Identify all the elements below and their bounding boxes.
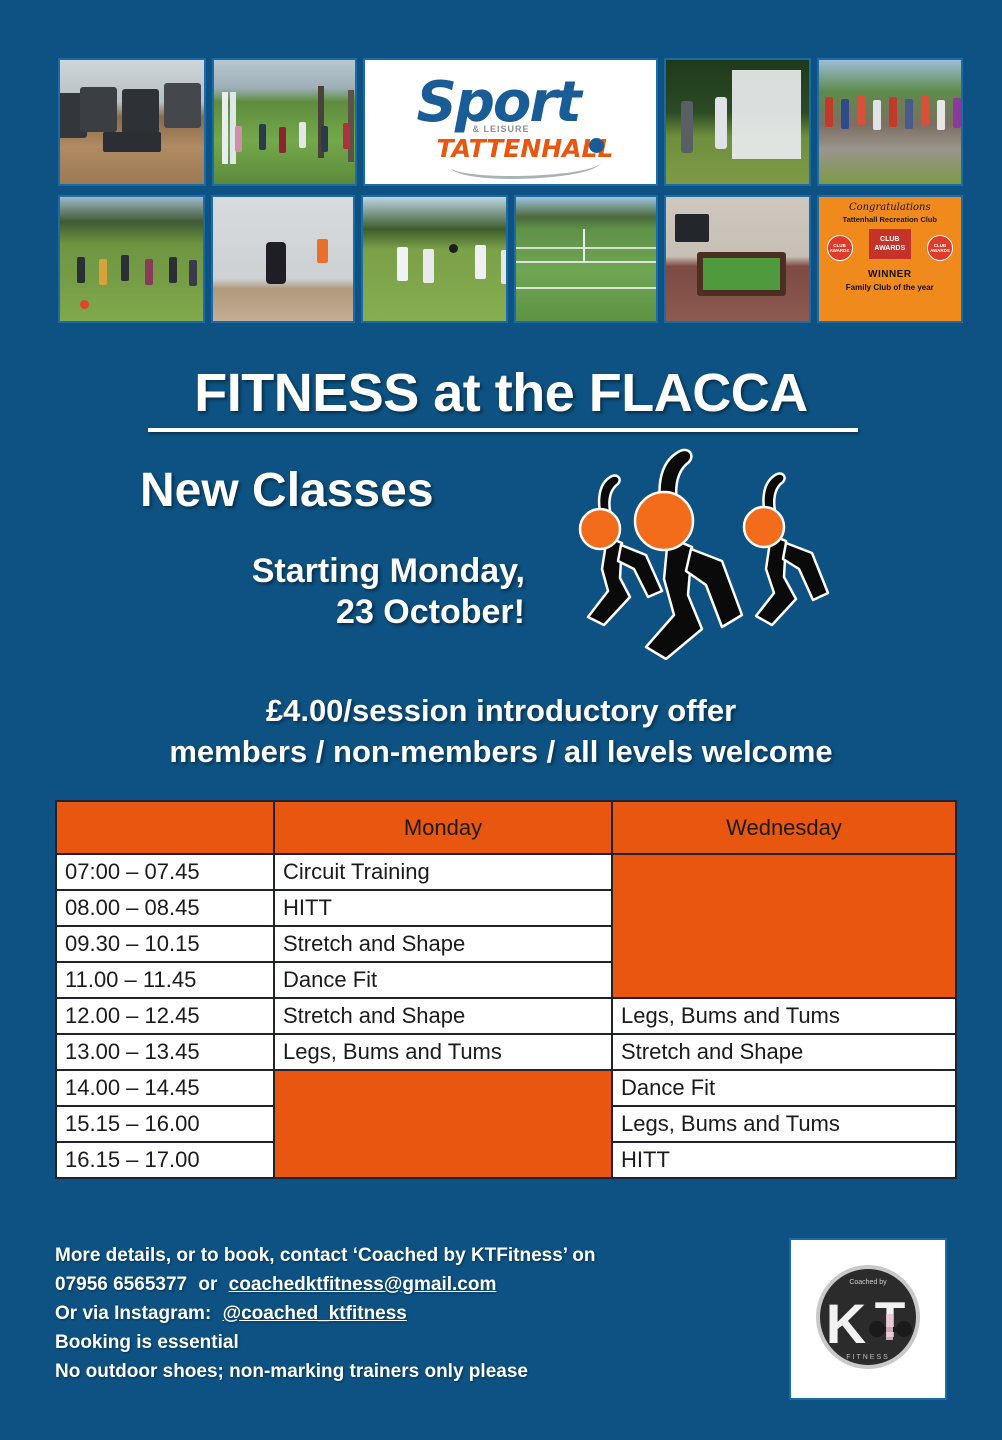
stick-figure-left-head [580,509,620,549]
timetable-time-cell: 14.00 – 14.45 [56,1070,274,1106]
table-row: 07:00 – 07.45 Circuit Training [56,854,956,890]
exercise-figures-illustration [560,445,845,660]
timetable-monday-cell: HITT [274,890,612,926]
title-underline [148,428,858,432]
stick-figure-center-head [635,492,693,550]
logo-swoosh-icon [451,150,601,179]
award-congratulations-text: Congratulations [849,202,931,213]
award-badge-row: CLUB AWARDS CLUB AWARDS CLUB AWARDS [819,227,962,267]
contact-instagram-line: Or via Instagram: @coached_ktfitness [55,1300,596,1329]
award-seal-right-icon: CLUB AWARDS [927,235,953,261]
gallery-photo-running-race [817,58,963,186]
timetable-header-blank [56,801,274,854]
instagram-handle-link[interactable]: @coached_ktfitness [223,1303,407,1324]
gallery-row-top: Sport & LEISURE TATTENHALL [58,58,963,186]
gallery-photo-football-match [212,58,358,186]
gallery-photo-club-award: Congratulations Tattenhall Recreation Cl… [817,195,964,323]
timetable-time-cell: 08.00 – 08.45 [56,890,274,926]
starting-line-2: 23 October! [180,592,525,633]
offer-text: £4.00/session introductory offer members… [0,690,1002,772]
page-title: FITNESS at the FLACCA [0,362,1002,424]
timetable-time-cell: 13.00 – 13.45 [56,1034,274,1070]
ktfitness-logo-top-text: Coached by [849,1279,887,1286]
timetable-monday-cell: Stretch and Shape [274,926,612,962]
contact-intro-line: More details, or to book, contact ‘Coach… [55,1242,596,1271]
award-badge-logo: CLUB AWARDS [869,229,911,259]
timetable-time-cell: 07:00 – 07.45 [56,854,274,890]
award-seal-left-icon: CLUB AWARDS [827,235,853,261]
timetable-header-row: Monday Wednesday [56,801,956,854]
timetable-wednesday-cell: Legs, Bums and Tums [612,998,956,1034]
photo-gallery: Sport & LEISURE TATTENHALL Congratulatio… [58,58,963,323]
timetable-monday-empty-block [274,1070,612,1178]
ktfitness-logo-letter-k: K [826,1292,866,1355]
timetable-time-cell: 09.30 – 10.15 [56,926,274,962]
timetable-header-wednesday: Wednesday [612,801,956,854]
timetable-wednesday-empty-block [612,854,956,998]
contact-phone: 07956 6565377 [55,1274,187,1295]
gallery-photo-squash-court [211,195,356,323]
ktfitness-logo-bottom-text: FITNESS [846,1354,890,1361]
timetable-time-cell: 16.15 – 17.00 [56,1142,274,1178]
timetable-wednesday-cell: Stretch and Shape [612,1034,956,1070]
stick-figure-center [646,450,742,659]
offer-line-1: £4.00/session introductory offer [0,690,1002,731]
timetable-wednesday-cell: Legs, Bums and Tums [612,1106,956,1142]
table-row: 13.00 – 13.45 Legs, Bums and Tums Stretc… [56,1034,956,1070]
contact-or-word: or [198,1274,217,1295]
contact-details: More details, or to book, contact ‘Coach… [55,1242,596,1386]
timetable-time-cell: 15.15 – 16.00 [56,1106,274,1142]
award-club-name: Tattenhall Recreation Club [843,215,937,224]
booking-essential-note: Booking is essential [55,1329,596,1358]
gallery-photo-field-sports [58,195,205,323]
class-timetable: Monday Wednesday 07:00 – 07.45 Circuit T… [55,800,957,1179]
award-winner-text: WINNER [868,269,912,280]
timetable-header-monday: Monday [274,801,612,854]
timetable-time-cell: 11.00 – 11.45 [56,962,274,998]
table-row: 12.00 – 12.45 Stretch and Shape Legs, Bu… [56,998,956,1034]
ktfitness-logo: Coached by K T FITNESS [789,1238,947,1400]
timetable-wednesday-cell: Dance Fit [612,1070,956,1106]
award-category-text: Family Club of the year [846,283,934,292]
instagram-label: Or via Instagram: [55,1303,211,1324]
gallery-photo-cricket-nets [664,58,812,186]
contact-phone-email-line: 07956 6565377 or coachedktfitness@gmail.… [55,1271,596,1300]
offer-line-2: members / non-members / all levels welco… [0,731,1002,772]
timetable-monday-cell: Circuit Training [274,854,612,890]
timetable-monday-cell: Legs, Bums and Tums [274,1034,612,1070]
timetable-monday-cell: Dance Fit [274,962,612,998]
timetable-monday-cell: Stretch and Shape [274,998,612,1034]
gallery-row-bottom: Congratulations Tattenhall Recreation Cl… [58,195,963,323]
gallery-photo-cricket-match [361,195,508,323]
table-row: 14.00 – 14.45 Dance Fit [56,1070,956,1106]
timetable-time-cell: 12.00 – 12.45 [56,998,274,1034]
stick-figure-right-head [744,507,784,547]
gallery-photo-snooker-room [664,195,811,323]
gallery-photo-sport-tattenhall-logo: Sport & LEISURE TATTENHALL [363,58,657,186]
starting-date-text: Starting Monday, 23 October! [180,551,525,634]
starting-line-1: Starting Monday, [180,551,525,592]
footwear-note: No outdoor shoes; non-marking trainers o… [55,1358,596,1387]
gallery-photo-tennis-court [514,195,659,323]
gallery-photo-gym-interior [58,58,206,186]
page-subtitle: New Classes [140,463,434,518]
timetable-wednesday-cell: HITT [612,1142,956,1178]
stick-figure-right [756,474,828,625]
contact-email-link[interactable]: coachedktfitness@gmail.com [229,1274,497,1295]
logo-leisure-text: & LEISURE [473,124,530,134]
